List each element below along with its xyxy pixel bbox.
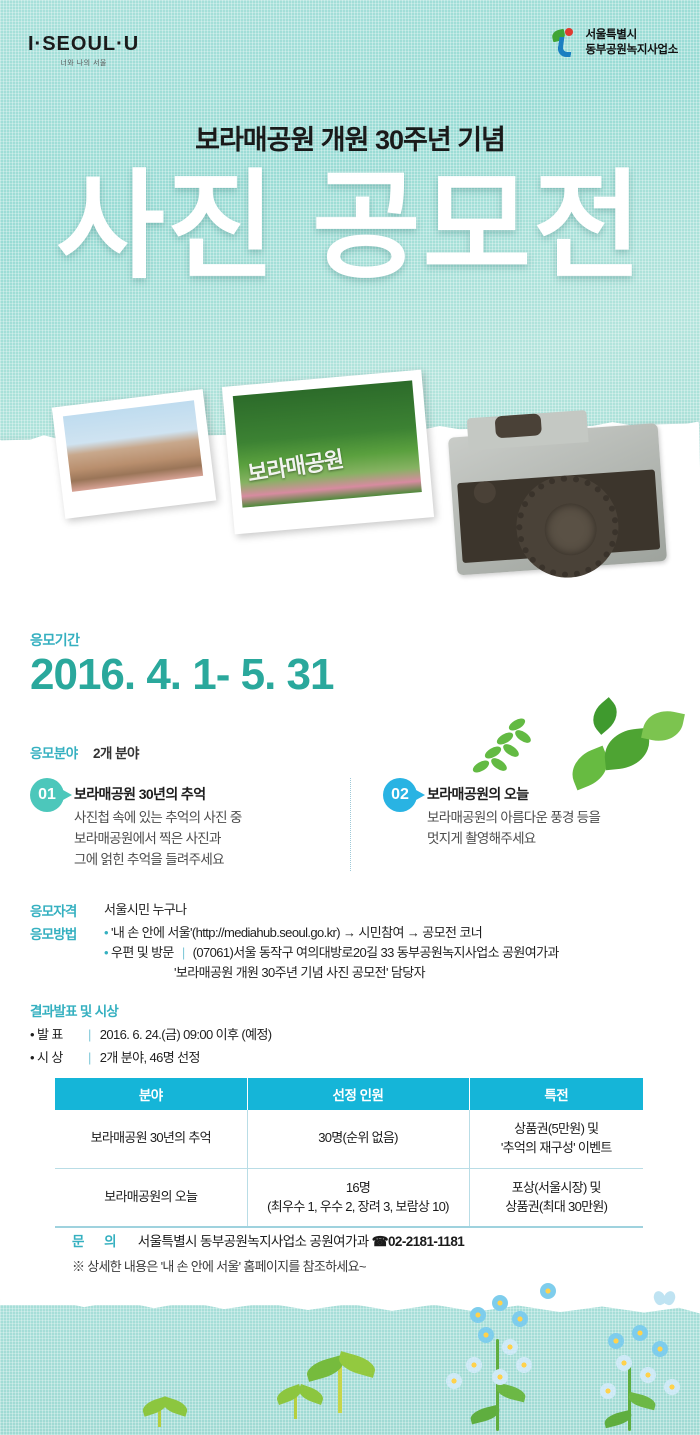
result-block: 결과발표 및 시상 • 발 표 | 2016. 6. 24.(금) 09:00 …: [30, 1000, 690, 1066]
cell-count-line1: 16명: [252, 1179, 465, 1198]
contact-label: 문 의: [72, 1234, 125, 1249]
category-text: 보라매공원 30년의 추억 사진첩 속에 있는 추억의 사진 중 보라매공원에서…: [74, 778, 242, 871]
prize-table-body: 보라매공원 30년의 추억 30명(순위 없음) 상품권(5만원) 및 '추억의…: [55, 1110, 643, 1227]
result-bullet: •: [30, 1050, 34, 1065]
flower-icon: [470, 1307, 486, 1323]
cell-benefit-line2: 상품권(최대 30만원): [474, 1198, 640, 1217]
cell-field: 보라매공원의 오늘: [55, 1168, 247, 1227]
flower-icon: [540, 1283, 556, 1299]
photo-collage: [0, 360, 700, 620]
result-value: 2016. 6. 24.(금) 09:00 이후 (예정): [100, 1027, 272, 1042]
categories-label: 응모분야: [30, 746, 78, 761]
method-postal-key: 우편 및 방문: [111, 945, 174, 960]
flower-icon: [652, 1341, 668, 1357]
categories-block: 응모분야 2개 분야 01 보라매공원 30년의 추억 사진첩 속에 있는 추억…: [30, 742, 680, 871]
flower-icon: [664, 1379, 680, 1395]
polaroid-photo-2: [222, 370, 434, 535]
seoul-city-emblem-logo: 서울특별시 동부공원녹지사업소: [552, 28, 678, 58]
prize-table: 분야 선정 인원 특전 보라매공원 30년의 추억 30명(순위 없음) 상품권…: [55, 1078, 643, 1228]
application-period-label: 응모기간: [30, 630, 333, 650]
category-number: 01: [38, 786, 56, 804]
result-bullet: •: [30, 1027, 34, 1042]
polaroid-photo-1: [52, 389, 217, 519]
category-title: 보라매공원의 오늘: [427, 784, 600, 804]
poster-subtitle: 보라매공원 개원 30주년 기념: [0, 118, 700, 157]
application-period-date: 2016. 4. 1- 5. 31: [30, 652, 333, 698]
category-item-01: 01 보라매공원 30년의 추억 사진첩 속에 있는 추억의 사진 중 보라매공…: [30, 778, 340, 871]
flower-icon: [478, 1327, 494, 1343]
flower-icon: [512, 1311, 528, 1327]
method-postal-value: (07061)서울 동작구 여의대방로20길 33 동부공원녹지사업소 공원여가…: [193, 945, 559, 960]
cell-benefit-line1: 상품권(5만원) 및: [474, 1120, 640, 1139]
flower-icon: [516, 1357, 532, 1373]
category-item-02: 02 보라매공원의 오늘 보라매공원의 아름다운 풍경 등을 멋지게 촬영해주세…: [350, 778, 660, 871]
vintage-camera-illustration: [446, 395, 676, 590]
method-postal: 우편 및 방문 | (07061)서울 동작구 여의대방로20길 33 동부공원…: [104, 943, 559, 963]
result-row-announcement: • 발 표 | 2016. 6. 24.(금) 09:00 이후 (예정): [30, 1024, 690, 1043]
result-key: 시 상: [37, 1047, 83, 1066]
qualification-row: 응모자격 서울시민 누구나: [30, 900, 690, 920]
cell-count-line2: (최우수 1, 우수 2, 장려 3, 보람상 10): [252, 1198, 465, 1217]
categories-heading: 응모분야 2개 분야: [30, 742, 680, 762]
table-row: 보라매공원 30년의 추억 30명(순위 없음) 상품권(5만원) 및 '추억의…: [55, 1110, 643, 1168]
divider-bar: |: [182, 945, 185, 960]
result-key: 발 표: [37, 1024, 83, 1043]
department-line1: 서울특별시: [585, 28, 678, 43]
flower-icon: [616, 1355, 632, 1371]
camera-winder-knob: [495, 413, 542, 438]
category-title: 보라매공원 30년의 추억: [74, 784, 242, 804]
table-header-benefit: 특전: [469, 1078, 643, 1110]
cell-benefit: 포상(서울시장) 및 상품권(최대 30만원): [469, 1168, 643, 1227]
cell-benefit-line2: '추억의 재구성' 이벤트: [474, 1139, 640, 1158]
prize-table-head: 분야 선정 인원 특전: [55, 1078, 643, 1110]
contact-phone[interactable]: 02-2181-1181: [388, 1234, 464, 1249]
result-value: 2개 분야, 46명 선정: [100, 1050, 200, 1065]
qualification-label: 응모자격: [30, 900, 104, 920]
table-row: 보라매공원의 오늘 16명 (최우수 1, 우수 2, 장려 3, 보람상 10…: [55, 1168, 643, 1227]
category-number: 02: [391, 786, 409, 804]
contact-block: 문 의 서울특별시 동부공원녹지사업소 공원여가과 ☎02-2181-1181 …: [72, 1230, 672, 1275]
flower-garden-decoration: [0, 1275, 700, 1435]
cell-count: 16명 (최우수 1, 우수 2, 장려 3, 보람상 10): [247, 1168, 469, 1227]
contact-office: 서울특별시 동부공원녹지사업소 공원여가과: [138, 1234, 369, 1249]
category-description: 보라매공원의 아름다운 풍경 등을 멋지게 촬영해주세요: [427, 808, 600, 850]
divider-bar: |: [88, 1050, 91, 1065]
category-number-badge: 02: [383, 778, 417, 812]
application-period-block: 응모기간 2016. 4. 1- 5. 31: [30, 630, 333, 698]
cell-count: 30명(순위 없음): [247, 1110, 469, 1168]
method-label: 응모방법: [30, 923, 104, 983]
seoul-brand-tagline: 너와 나의 서울: [28, 58, 139, 68]
category-number-badge: 01: [30, 778, 64, 812]
phone-icon: ☎: [372, 1234, 388, 1249]
flower-icon: [632, 1325, 648, 1341]
result-heading: 결과발표 및 시상: [30, 1000, 690, 1020]
method-row: 응모방법 '내 손 안에 서울'(http://mediahub.seoul.g…: [30, 923, 690, 983]
qualification-value: 서울시민 누구나: [104, 900, 187, 920]
category-text: 보라매공원의 오늘 보라매공원의 아름다운 풍경 등을 멋지게 촬영해주세요: [427, 778, 600, 871]
method-online[interactable]: '내 손 안에 서울'(http://mediahub.seoul.go.kr)…: [104, 923, 559, 943]
contact-row: 문 의 서울특별시 동부공원녹지사업소 공원여가과 ☎02-2181-1181: [72, 1230, 672, 1250]
table-header-field: 분야: [55, 1078, 247, 1110]
seoul-brand-logo: I·SEOUL·U 너와 나의 서울: [28, 34, 139, 68]
cell-field: 보라매공원 30년의 추억: [55, 1110, 247, 1168]
department-name: 서울특별시 동부공원녹지사업소: [585, 28, 678, 57]
divider-bar: |: [88, 1027, 91, 1042]
table-header-row: 분야 선정 인원 특전: [55, 1078, 643, 1110]
photo-1-image: [63, 400, 203, 492]
method-postal-attn: '보라매공원 개원 30주년 기념 사진 공모전' 담당자: [104, 963, 559, 983]
poster-title: 사진 공모전: [0, 168, 700, 286]
categories-count: 2개 분야: [93, 746, 139, 761]
result-row-awards: • 시 상 | 2개 분야, 46명 선정: [30, 1047, 690, 1066]
department-line2: 동부공원녹지사업소: [585, 43, 678, 58]
flower-icon: [492, 1295, 508, 1311]
poster-root: I·SEOUL·U 너와 나의 서울 서울특별시 동부공원녹지사업소 보라매공원…: [0, 0, 700, 1435]
cell-benefit: 상품권(5만원) 및 '추억의 재구성' 이벤트: [469, 1110, 643, 1168]
seoul-brand-logo-text: I·SEOUL·U: [28, 34, 139, 54]
cell-benefit-line1: 포상(서울시장) 및: [474, 1179, 640, 1198]
flower-icon: [466, 1357, 482, 1373]
categories-list: 01 보라매공원 30년의 추억 사진첩 속에 있는 추억의 사진 중 보라매공…: [30, 778, 680, 871]
flower-icon: [502, 1339, 518, 1355]
flower-icon: [608, 1333, 624, 1349]
flower-icon: [640, 1367, 656, 1383]
flower-icon: [492, 1369, 508, 1385]
application-info-block: 응모자격 서울시민 누구나 응모방법 '내 손 안에 서울'(http://me…: [30, 900, 690, 987]
flower-icon: [446, 1373, 462, 1389]
table-header-count: 선정 인원: [247, 1078, 469, 1110]
photo-2-image: [233, 380, 422, 507]
flower-icon: [600, 1383, 616, 1399]
category-description: 사진첩 속에 있는 추억의 사진 중 보라매공원에서 찍은 사진과 그에 얽힌 …: [74, 808, 242, 871]
method-values: '내 손 안에 서울'(http://mediahub.seoul.go.kr)…: [104, 923, 559, 983]
contact-note: ※ 상세한 내용은 '내 손 안에 서울' 홈페이지를 참조하세요~: [72, 1256, 672, 1275]
seoul-city-emblem-icon: [552, 28, 578, 58]
butterfly-icon: [654, 1291, 676, 1307]
